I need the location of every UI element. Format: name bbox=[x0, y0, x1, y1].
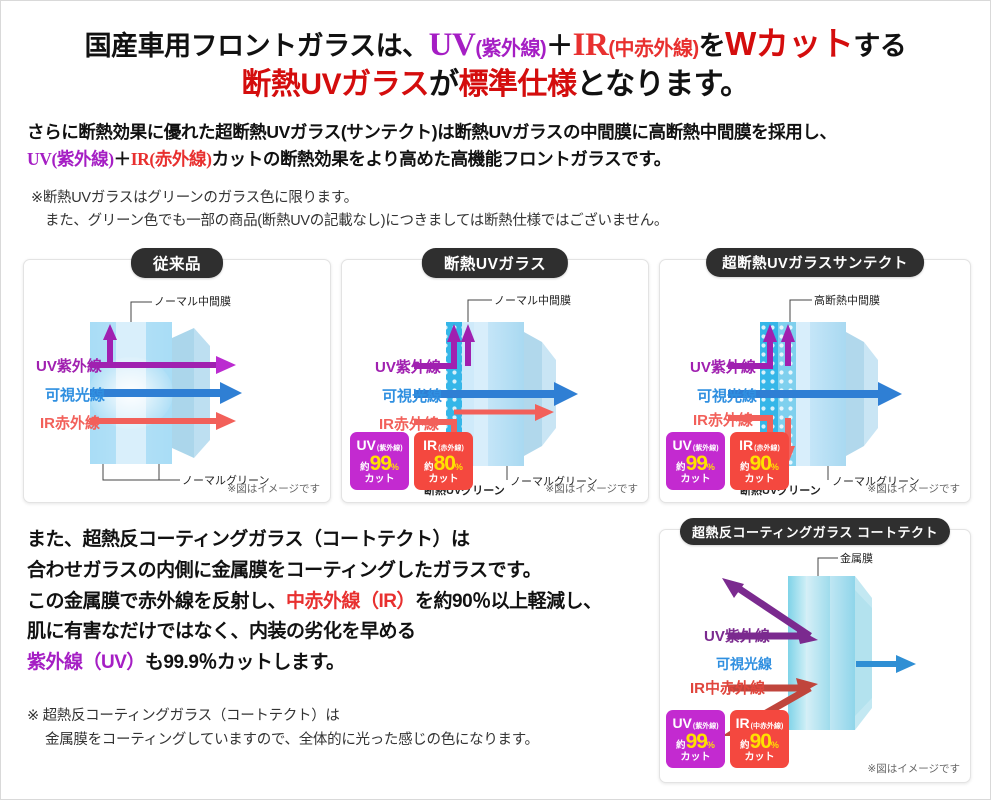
card3-label-visible: 可視光線 bbox=[697, 385, 757, 406]
card4-badge-ir-kind: IR bbox=[736, 716, 750, 730]
leader-line-interlayer bbox=[131, 302, 152, 322]
card3-badge-uv-paren: (紫外線) bbox=[693, 445, 719, 452]
card-heat-shield-uv-title: 断熱UVガラス bbox=[422, 248, 568, 278]
coatect-description: また、超熱反コーティングガラス（コートテクト）は 合わせガラスの内側に金属膜をコ… bbox=[27, 525, 647, 679]
headline-seg-1: 国産車用フロントガラスは、 bbox=[85, 31, 429, 61]
glass-inner-bevel bbox=[855, 576, 872, 730]
card2-badge-ir-top: IR(赤外線) bbox=[423, 438, 464, 452]
visible-arrow-right bbox=[896, 655, 916, 673]
card4-label-visible: 可視光線 bbox=[716, 654, 772, 674]
metal-film-layer bbox=[806, 576, 830, 730]
card3-badge-uv-cut: カット bbox=[681, 475, 711, 485]
coatect-note-line-2: 金属膜をコーティングしていますので、全体的に光った感じの色になります。 bbox=[27, 729, 647, 753]
card4-badge-ir: IR(中赤外線) 約90% カット bbox=[730, 710, 789, 768]
card3-badges: UV(紫外線) 約99% カット IR(赤外線) 約90% カット bbox=[666, 432, 789, 490]
card2-image-note: ※図はイメージです bbox=[545, 481, 638, 496]
card4-badge-uv-top: UV(紫外線) bbox=[672, 716, 718, 730]
headline-line-1: 国産車用フロントガラスは、UV(紫外線)＋IR(中赤外線)をWカットする bbox=[11, 23, 980, 66]
card3-badge-uv-yaku: 約 bbox=[676, 463, 686, 473]
card2-badges: UV(紫外線) 約99% カット IR(赤外線) 約80% カット bbox=[350, 432, 473, 490]
card4-badge-uv-value: 99 bbox=[686, 731, 707, 752]
card2-badge-ir: IR(赤外線) 約80% カット bbox=[414, 432, 473, 490]
top-note-line-1: ※断熱UVガラスはグリーンのガラス色に限ります。 bbox=[31, 187, 964, 210]
card2-badge-ir-yaku: 約 bbox=[424, 463, 434, 473]
leader-line-metal-film bbox=[818, 558, 838, 576]
glass-layer-2 bbox=[830, 576, 855, 730]
card2-badge-ir-paren: (赤外線) bbox=[438, 445, 464, 452]
card3-label-uv: UV紫外線 bbox=[690, 356, 756, 377]
card4-badge-ir-paren: (中赤外線) bbox=[751, 723, 784, 730]
card1-leader-interlayer: ノーマル中間膜 bbox=[154, 293, 231, 309]
card4-badge-uv-mid: 約99% bbox=[676, 731, 715, 752]
card3-badge-ir-kind: IR bbox=[739, 438, 753, 452]
card1-label-visible: 可視光線 bbox=[45, 384, 105, 405]
card3-label-ir: IR赤外線 bbox=[693, 409, 753, 430]
coatect-line-2: 合わせガラスの内側に金属膜をコーティングしたガラスです。 bbox=[27, 556, 647, 587]
headline-uv: UV bbox=[429, 27, 476, 63]
intro-uv: UV(紫外線) bbox=[27, 149, 114, 169]
card4-badge-uv-kind: UV bbox=[672, 716, 691, 730]
card2-badge-uv-top: UV(紫外線) bbox=[356, 438, 402, 452]
intro-plus: ＋ bbox=[114, 149, 131, 169]
card4-badge-uv-yaku: 約 bbox=[676, 741, 686, 751]
card4-badges: UV(紫外線) 約99% カット IR(中赤外線) 約90% カット bbox=[666, 710, 789, 768]
coatect-line-4: 肌に有害なだけではなく、内装の劣化を早める bbox=[27, 617, 647, 648]
card3-badge-uv-mid: 約99% bbox=[676, 453, 715, 474]
headline-tail: となります。 bbox=[576, 68, 749, 101]
card3-badge-ir-yaku: 約 bbox=[740, 463, 750, 473]
headline-wcut: Wカット bbox=[725, 25, 853, 62]
intro-paragraph-line-2: UV(紫外線)＋IR(赤外線)カットの断熱効果をより高めた高機能フロントガラスで… bbox=[27, 146, 964, 173]
card4-label-ir: IR中赤外線 bbox=[690, 677, 765, 698]
leader-line-green-1 bbox=[103, 464, 180, 480]
card2-badge-uv-kind: UV bbox=[356, 438, 375, 452]
top-note-line-2: また、グリーン色でも一部の商品(断熱UVの記載なし)につきましては断熱仕様ではご… bbox=[31, 210, 964, 233]
card2-badge-ir-cut: カット bbox=[429, 475, 459, 485]
card3-badge-uv: UV(紫外線) 約99% カット bbox=[666, 432, 725, 490]
visible-arrow-right bbox=[554, 382, 578, 406]
card3-badge-ir-mid: 約90% bbox=[740, 453, 779, 474]
diagram-cards-row: 従来品 bbox=[1, 249, 991, 511]
glass-layer-1 bbox=[788, 576, 806, 730]
card2-badge-ir-mid: 約80% bbox=[424, 453, 463, 474]
card4-badge-uv-paren: (紫外線) bbox=[693, 723, 719, 730]
ir-arrow-right bbox=[216, 412, 236, 430]
intro-ir: IR(赤外線) bbox=[131, 149, 212, 169]
card2-badge-ir-kind: IR bbox=[423, 438, 437, 452]
coatect-note-line-1: ※ 超熱反コーティングガラス（コートテクト）は bbox=[27, 705, 647, 729]
headline-ga: が bbox=[429, 68, 459, 101]
card2-badge-uv-pct: % bbox=[391, 463, 399, 472]
coatect-line-1: また、超熱反コーティングガラス（コートテクト）は bbox=[27, 525, 647, 556]
coatect-line-3b: を約90％以上軽減し、 bbox=[415, 591, 602, 612]
intro-rest: カットの断熱効果をより高めた高機能フロントガラスです。 bbox=[212, 149, 671, 169]
card-super-heat-shield: 超断熱UVガラスサンテクト bbox=[659, 259, 971, 503]
card-heat-shield-uv: 断熱UVガラス bbox=[341, 259, 649, 503]
card3-badge-ir-cut: カット bbox=[745, 475, 775, 485]
card3-badge-uv-top: UV(紫外線) bbox=[672, 438, 718, 452]
card4-badge-uv-cut: カット bbox=[681, 753, 711, 763]
card-coatect: 超熱反コーティングガラス コートテクト bbox=[659, 529, 971, 783]
card4-badge-uv: UV(紫外線) 約99% カット bbox=[666, 710, 725, 768]
card1-label-ir: IR赤外線 bbox=[40, 412, 100, 433]
visible-arrow-right bbox=[220, 382, 242, 404]
coatect-line-3a: この金属膜で赤外線を反射し、 bbox=[27, 591, 286, 612]
headline-hot-glass: 断熱UVガラス bbox=[241, 68, 429, 101]
card3-badge-uv-pct: % bbox=[707, 463, 715, 472]
headline-ir: IR bbox=[573, 27, 609, 63]
card3-image-note: ※図はイメージです bbox=[867, 481, 960, 496]
card2-label-ir: IR赤外線 bbox=[379, 413, 439, 434]
card4-badge-ir-yaku: 約 bbox=[740, 741, 750, 751]
card4-label-uv: UV紫外線 bbox=[704, 625, 770, 646]
card1-image-note: ※図はイメージです bbox=[227, 481, 320, 496]
card4-badge-ir-cut: カット bbox=[745, 753, 775, 763]
headline-line-2: 断熱UVガラスが標準仕様となります。 bbox=[11, 66, 980, 104]
card3-badge-uv-kind: UV bbox=[672, 438, 691, 452]
uv-arrow-right bbox=[216, 356, 236, 374]
card4-badge-ir-value: 90 bbox=[750, 731, 771, 752]
card3-badge-ir-value: 90 bbox=[750, 453, 771, 474]
card3-badge-ir-pct: % bbox=[771, 463, 779, 472]
coatect-line-3: この金属膜で赤外線を反射し、中赤外線（IR）を約90％以上軽減し、 bbox=[27, 587, 647, 618]
headline-uv-paren: (紫外線) bbox=[475, 38, 546, 60]
card2-badge-ir-value: 80 bbox=[434, 453, 455, 474]
card2-badge-ir-pct: % bbox=[455, 463, 463, 472]
card2-badge-uv-paren: (紫外線) bbox=[377, 445, 403, 452]
card3-leader-interlayer: 高断熱中間膜 bbox=[814, 292, 880, 308]
intro-paragraph-line-1: さらに断熱効果に優れた超断熱UVガラス(サンテクト)は断熱UVガラスの中間膜に高… bbox=[27, 119, 964, 146]
card2-badge-uv-value: 99 bbox=[370, 453, 391, 474]
card-coatect-title: 超熱反コーティングガラス コートテクト bbox=[680, 518, 950, 545]
coatect-line-5: 紫外線（UV）も99.9％カットします。 bbox=[27, 648, 647, 679]
card-super-heat-shield-title: 超断熱UVガラスサンテクト bbox=[706, 248, 924, 277]
card4-leader-metal-film: 金属膜 bbox=[840, 550, 873, 566]
card2-label-uv: UV紫外線 bbox=[375, 356, 441, 377]
headline-plus: ＋ bbox=[546, 31, 573, 61]
card4-badge-ir-top: IR(中赤外線) bbox=[736, 716, 784, 730]
card3-badge-uv-value: 99 bbox=[686, 453, 707, 474]
headline-seg-3: する bbox=[853, 31, 906, 61]
leader-line-interlayer bbox=[468, 300, 492, 322]
infographic-page: 国産車用フロントガラスは、UV(紫外線)＋IR(中赤外線)をWカットする 断熱U… bbox=[0, 0, 991, 800]
card-conventional: 従来品 bbox=[23, 259, 331, 503]
card4-image-note: ※図はイメージです bbox=[867, 761, 960, 776]
card2-badge-uv-cut: カット bbox=[365, 475, 395, 485]
card4-badge-ir-pct: % bbox=[771, 741, 779, 750]
card2-badge-uv: UV(紫外線) 約99% カット bbox=[350, 432, 409, 490]
uv-arrow-reflect bbox=[722, 578, 744, 598]
card-conventional-title: 従来品 bbox=[131, 248, 223, 278]
card4-badge-ir-mid: 約90% bbox=[740, 731, 779, 752]
card3-badge-ir-paren: (赤外線) bbox=[754, 445, 780, 452]
headline-seg-2: を bbox=[699, 31, 726, 61]
coatect-note: ※ 超熱反コーティングガラス（コートテクト）は 金属膜をコーティングしていますの… bbox=[27, 705, 647, 753]
intro-paragraph: さらに断熱効果に優れた超断熱UVガラス(サンテクト)は断熱UVガラスの中間膜に高… bbox=[1, 109, 990, 173]
leader-line-interlayer bbox=[790, 300, 812, 322]
top-note: ※断熱UVガラスはグリーンのガラス色に限ります。 また、グリーン色でも一部の商品… bbox=[1, 173, 990, 233]
card2-leader-interlayer: ノーマル中間膜 bbox=[494, 292, 571, 308]
headline: 国産車用フロントガラスは、UV(紫外線)＋IR(中赤外線)をWカットする 断熱U… bbox=[1, 1, 990, 109]
headline-standard: 標準仕様 bbox=[458, 68, 576, 101]
card4-badge-uv-pct: % bbox=[707, 741, 715, 750]
card2-label-visible: 可視光線 bbox=[382, 385, 442, 406]
coatect-line-5b: も99.9％カットします。 bbox=[145, 652, 345, 673]
coatect-uv-highlight: 紫外線（UV） bbox=[27, 652, 145, 673]
coatect-ir-highlight: 中赤外線（IR） bbox=[286, 591, 415, 612]
headline-ir-paren: (中赤外線) bbox=[608, 38, 698, 60]
visible-arrow-right bbox=[878, 382, 902, 406]
card3-badge-ir-top: IR(赤外線) bbox=[739, 438, 780, 452]
card1-label-uv: UV紫外線 bbox=[36, 355, 102, 376]
card2-badge-uv-yaku: 約 bbox=[360, 463, 370, 473]
card3-badge-ir: IR(赤外線) 約90% カット bbox=[730, 432, 789, 490]
card2-badge-uv-mid: 約99% bbox=[360, 453, 399, 474]
